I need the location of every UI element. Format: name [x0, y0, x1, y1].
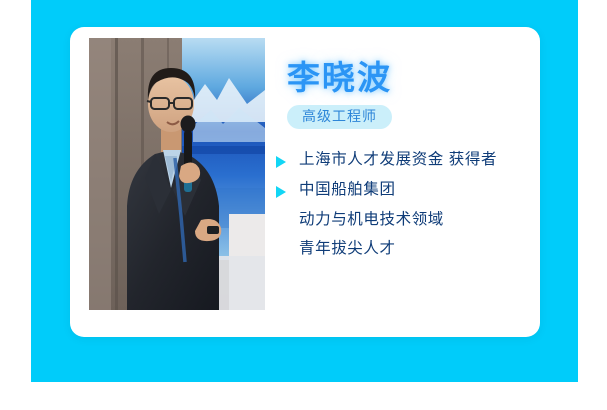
credential-text: 上海市人才发展资金 获得者: [299, 151, 497, 169]
credential-text: 青年拔尖人才: [299, 240, 396, 258]
list-item: 中国船舶集团: [275, 181, 533, 199]
profile-card: 李晓波 高级工程师 上海市人才发展资金 获得者 中国船舶集团: [70, 27, 540, 337]
credentials-list: 上海市人才发展资金 获得者 中国船舶集团 动力与机电技术领域: [275, 151, 533, 257]
list-item: 青年拔尖人才: [275, 240, 533, 258]
credential-text: 中国船舶集团: [299, 181, 396, 199]
speaker-name: 李晓波: [287, 61, 533, 94]
triangle-right-icon: [275, 151, 289, 168]
credential-text: 动力与机电技术领域: [299, 211, 444, 229]
list-item: 上海市人才发展资金 获得者: [275, 151, 533, 169]
list-item: 动力与机电技术领域: [275, 211, 533, 229]
profile-card-page: 李晓波 高级工程师 上海市人才发展资金 获得者 中国船舶集团: [0, 0, 607, 410]
job-title-badge: 高级工程师: [287, 105, 392, 129]
triangle-right-icon: [275, 181, 289, 198]
speaker-photo: [89, 38, 265, 310]
speaker-info: 李晓波 高级工程师 上海市人才发展资金 获得者 中国船舶集团: [275, 61, 533, 269]
